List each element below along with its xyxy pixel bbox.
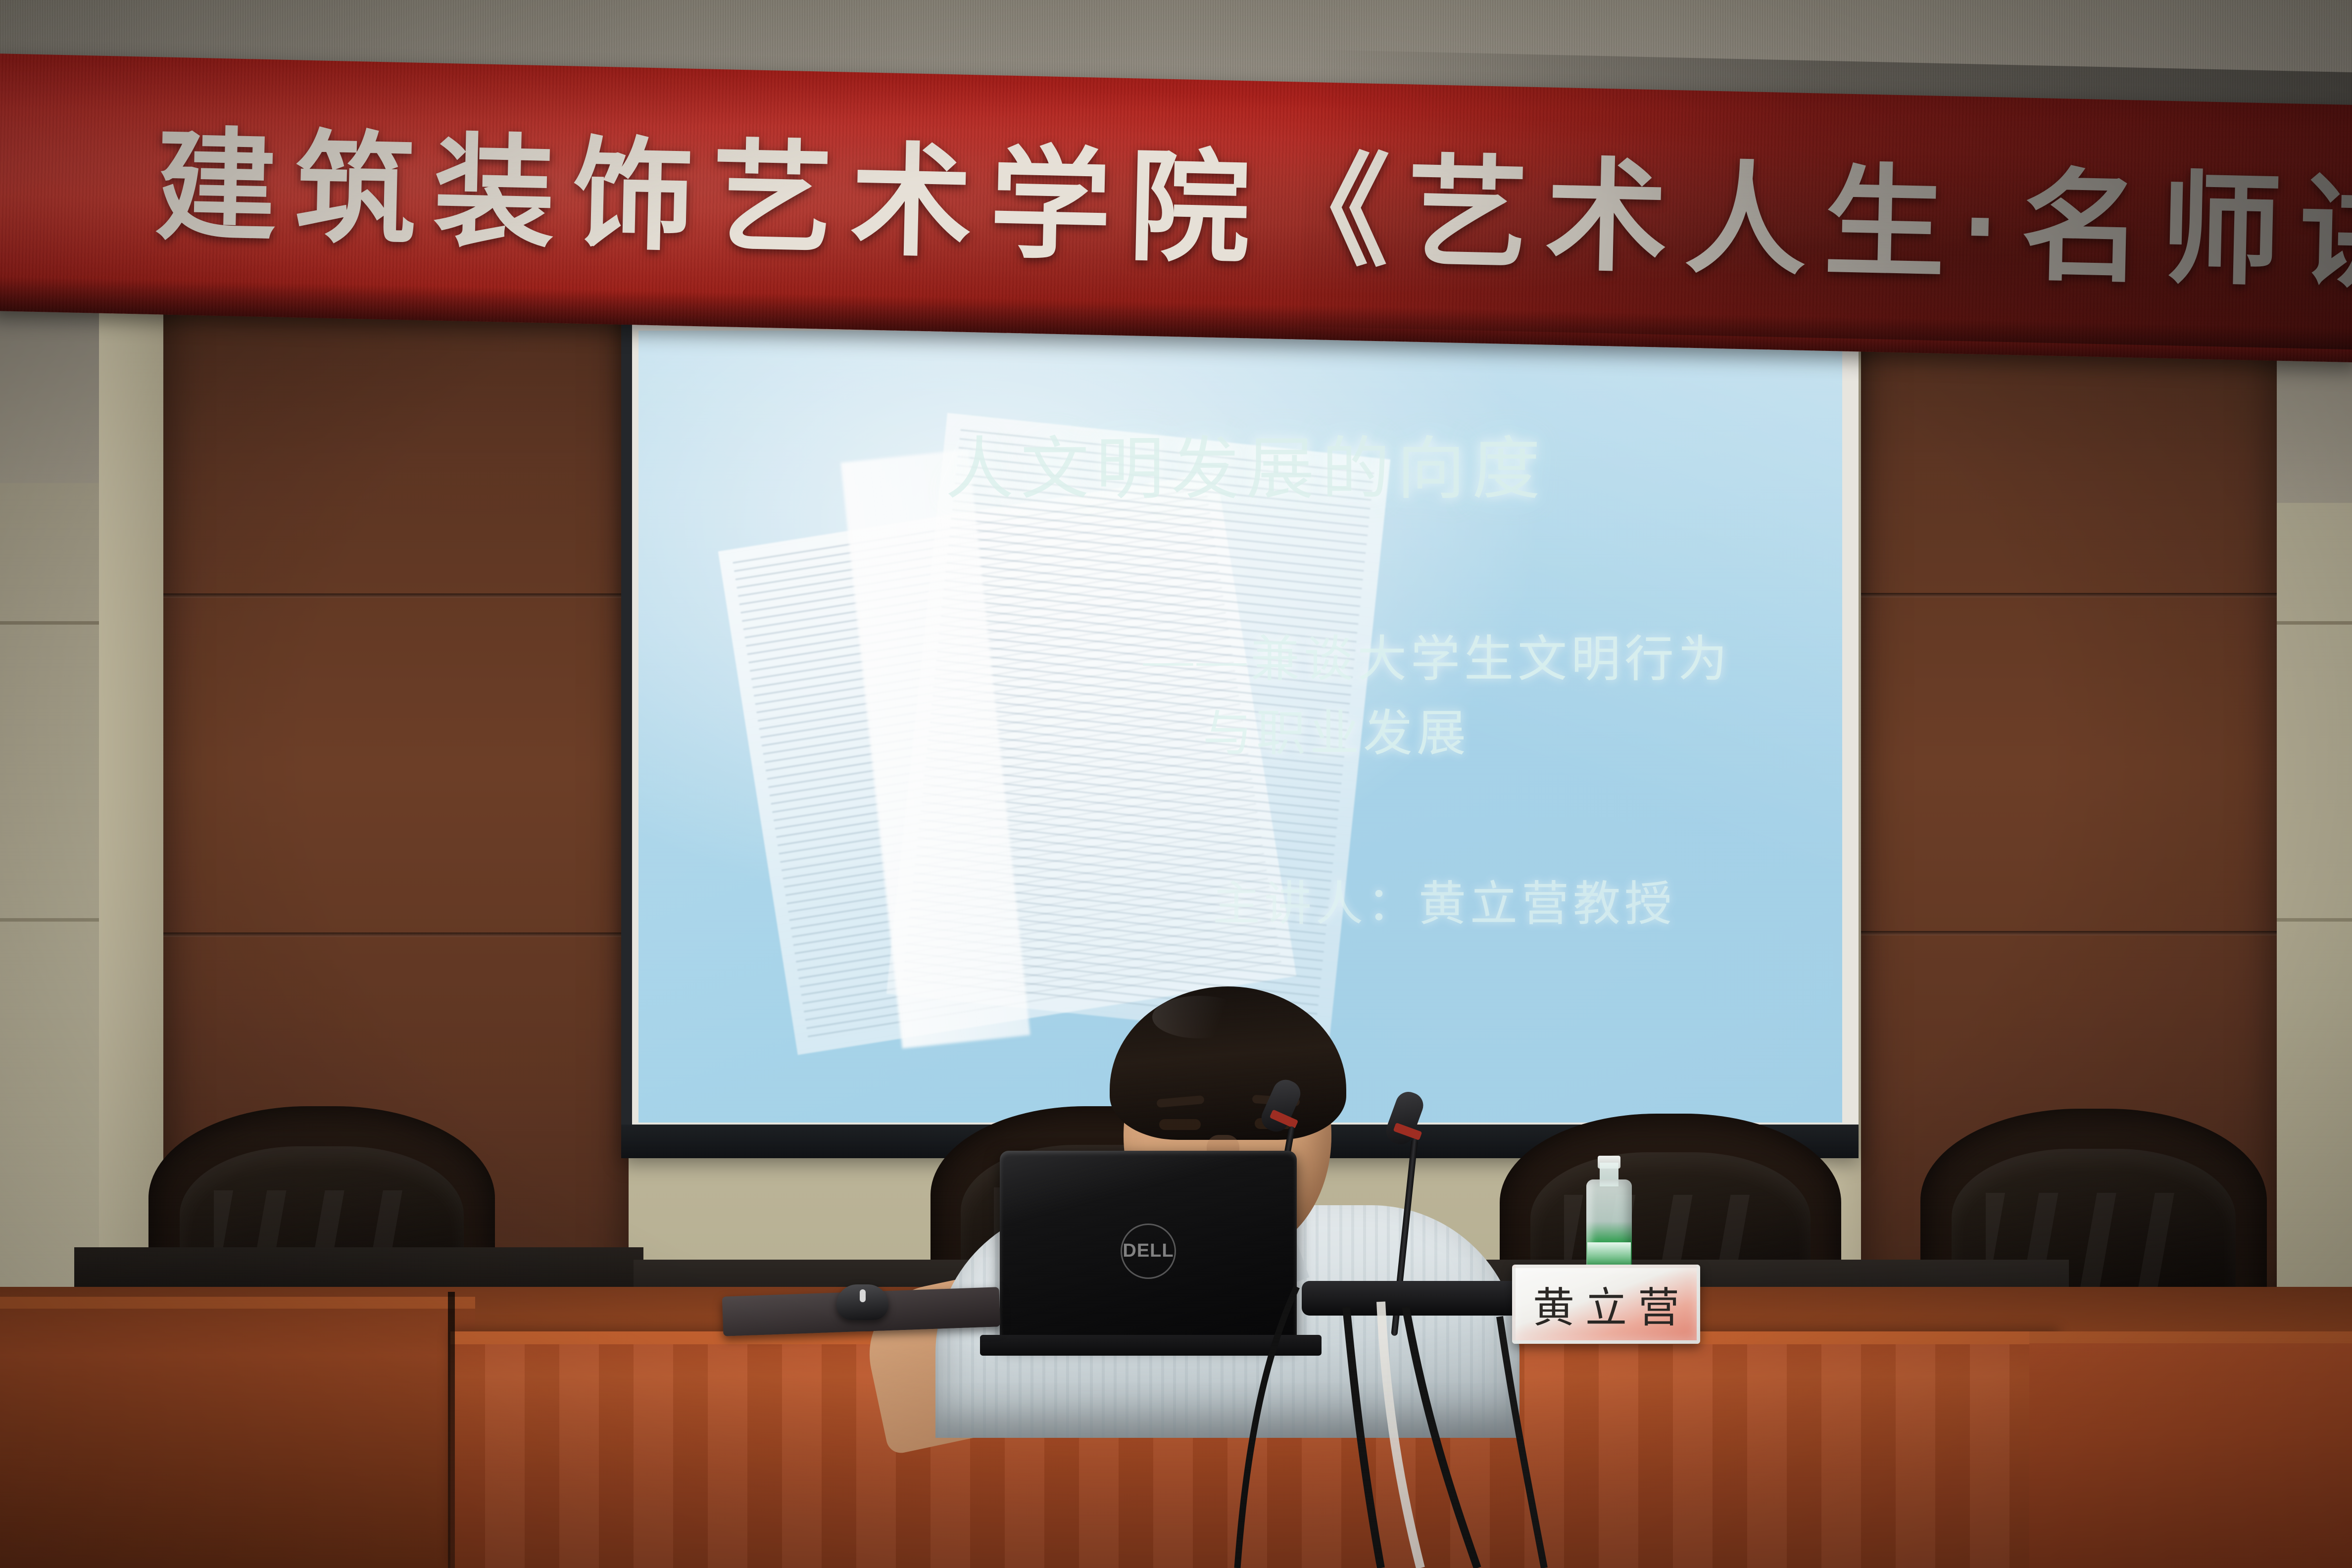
computer-mouse xyxy=(836,1284,888,1320)
slide-subtitle-line-1: ——兼谈大学生文明行为 xyxy=(1143,632,1731,687)
slide-title: 人文明发展的向度 xyxy=(945,430,1787,510)
red-banner: 建筑装饰艺术学院《艺术人生·名师讲坛》 xyxy=(0,53,2352,362)
presenter-hair xyxy=(1110,986,1346,1140)
name-plate-text: 黄立营 xyxy=(1522,1274,1690,1334)
dell-laptop: DELL xyxy=(1000,1151,1297,1344)
podium-right-section xyxy=(2029,1331,2352,1568)
laptop-base xyxy=(980,1335,1322,1356)
laptop-lid: DELL xyxy=(1000,1151,1297,1344)
slide-subtitle-line-2: 与职业发展 xyxy=(1143,697,1826,771)
lecture-hall-photo: 人文明发展的向度 ——兼谈大学生文明行为 与职业发展 主讲人：黄立营教授 建筑装… xyxy=(0,0,2352,1568)
eye-left xyxy=(1159,1119,1201,1130)
podium-left-section xyxy=(0,1297,475,1568)
slide-subtitle: ——兼谈大学生文明行为 与职业发展 xyxy=(1143,623,1826,771)
banner-text: 建筑装饰艺术学院《艺术人生·名师讲坛》 xyxy=(154,125,2260,293)
name-plate: 黄立营 xyxy=(1512,1265,1700,1344)
slide-presenter-credit: 主讲人：黄立营教授 xyxy=(1213,865,1807,934)
dell-logo-icon: DELL xyxy=(1121,1224,1176,1279)
podium-seam xyxy=(448,1292,455,1568)
